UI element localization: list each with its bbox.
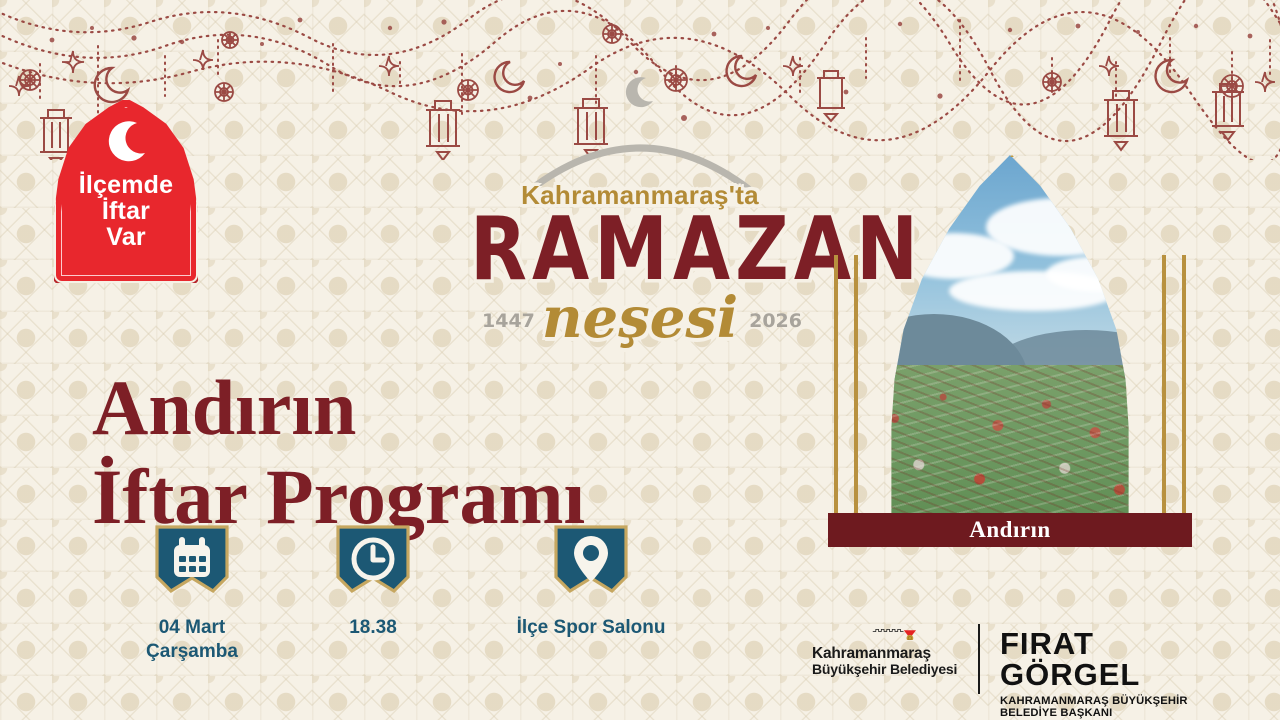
ramazan-nesesi-logo: Kahramanmaraş'ta RAMAZAN neşesi 1447 202… (470, 72, 810, 287)
badge-line-1: İlçemde (54, 172, 198, 198)
photo-cloud (986, 198, 1136, 256)
sparkle-icon (62, 51, 84, 73)
event-venue-label: İlçe Spor Salonu (466, 616, 716, 640)
logo-year-hijri: 1447 (482, 310, 535, 332)
mayor-role: KAHRAMANMARAŞ BÜYÜKŞEHİR BELEDİYE BAŞKAN… (1000, 695, 1232, 719)
badge-line-3: Var (54, 224, 198, 250)
sparkle-icon (1255, 72, 1275, 92)
photo-cloud (1046, 256, 1156, 292)
event-date-label: 04 Mart Çarşamba (112, 616, 272, 664)
logo-year-gregorian: 2026 (749, 310, 802, 332)
sparkle-icon (1099, 56, 1119, 76)
date-shield (154, 524, 230, 606)
lantern-icon (426, 101, 460, 160)
municipality-logo: Kahramanmaraş Büyükşehir Belediyesi (812, 626, 960, 678)
photo-caption: Andırın (828, 513, 1192, 547)
flower-rosette-icon (1043, 73, 1061, 91)
crescent-moon-icon (103, 120, 149, 166)
ramadan-iftar-poster: İlçemde İftar Var Kahramanmaraş'ta RAMAZ… (0, 0, 1280, 720)
mayor-name: FIRAT GÖRGEL (1000, 628, 1232, 690)
frame-pillar-inner-left (854, 255, 858, 521)
flower-rosette-icon (215, 83, 233, 101)
venue-shield (553, 524, 629, 606)
badge-text: İlçemde İftar Var (54, 172, 198, 250)
flower-rosette-icon (1221, 75, 1243, 97)
event-info-row: 04 Mart Çarşamba 18.38 (112, 524, 712, 664)
frame-pillar-outer-left (834, 255, 838, 521)
footer-logos: Kahramanmaraş Büyükşehir Belediyesi FIRA… (812, 622, 1232, 698)
flower-rosette-icon (222, 32, 238, 48)
municipality-line-1: Kahramanmaraş (812, 645, 960, 662)
frame-pillar-inner-right (1162, 255, 1166, 521)
event-time-label: 18.38 (308, 616, 438, 640)
lantern-icon (817, 71, 845, 121)
sparkle-icon (379, 56, 399, 76)
flower-rosette-icon (603, 25, 621, 43)
event-date-item: 04 Mart Çarşamba (112, 524, 272, 664)
mosque-dome-icon (470, 72, 810, 192)
ilcemde-iftar-var-badge: İlçemde İftar Var (54, 98, 198, 283)
badge-line-2: İftar (54, 198, 198, 224)
crescent-moon-icon (95, 68, 128, 102)
time-shield (335, 524, 411, 606)
frame-pillar-outer-right (1182, 255, 1186, 521)
mayor-logo: FIRAT GÖRGEL KAHRAMANMARAŞ BÜYÜKŞEHİR BE… (1000, 628, 1232, 719)
logo-word-ramazan: RAMAZAN (470, 206, 810, 293)
kahramanmaras-castle-medal-icon (820, 626, 970, 640)
title-line-1: Andırın (92, 364, 356, 451)
event-time-item: 18.38 (308, 524, 438, 640)
municipality-name: Kahramanmaraş Büyükşehir Belediyesi (812, 645, 960, 678)
footer-divider (978, 624, 980, 694)
crescent-moon-icon (1156, 60, 1187, 92)
district-photo-frame: Andırın (828, 155, 1192, 573)
page-title: Andırın İftar Programı (92, 364, 752, 542)
event-venue-item: İlçe Spor Salonu (466, 524, 716, 640)
municipality-line-2: Büyükşehir Belediyesi (812, 662, 960, 678)
district-photo (858, 155, 1162, 543)
